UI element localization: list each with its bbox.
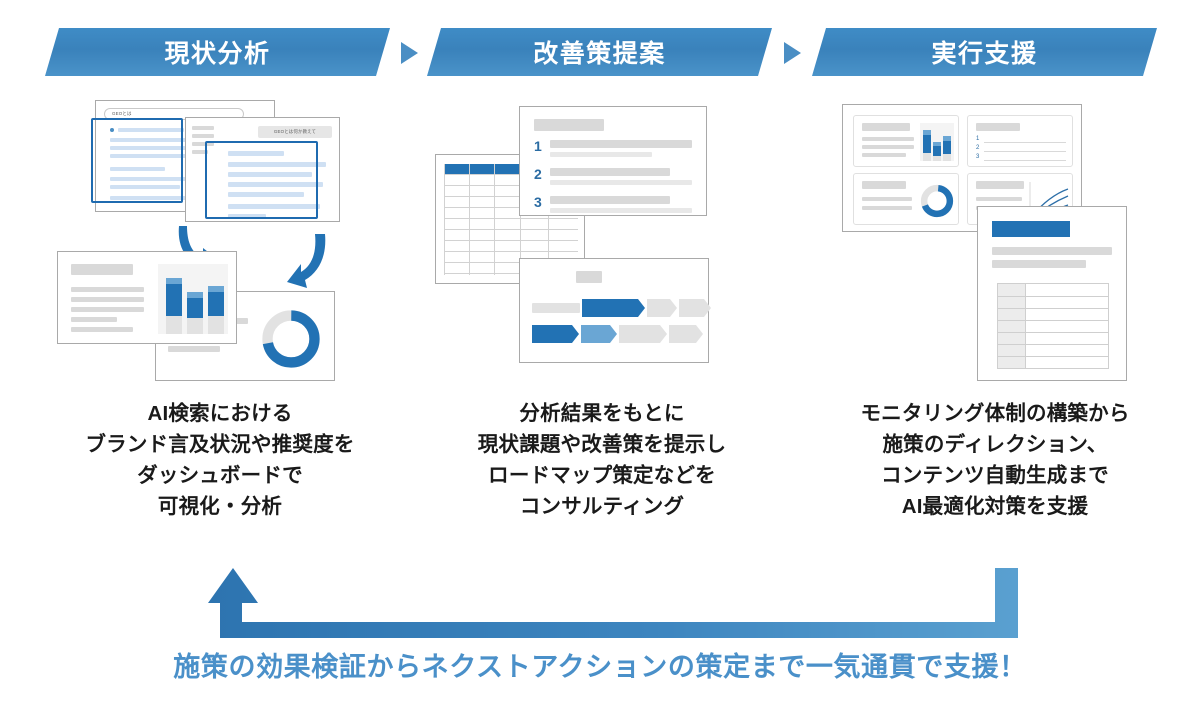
report-table — [997, 283, 1109, 369]
roadmap-label — [532, 303, 580, 313]
roadmap-row — [532, 299, 700, 317]
caption-line: モニタリング体制の構築から — [810, 398, 1180, 429]
dashboard-panel-bar-chart — [853, 115, 959, 167]
text-line — [550, 208, 692, 213]
bar-chart-bar — [208, 286, 224, 334]
title-block — [71, 264, 133, 275]
bar-chart-bar — [187, 292, 203, 334]
chat-prompt-text: GEOとは何か教えて — [274, 129, 316, 135]
bar-chart-bar — [923, 130, 931, 161]
text-line — [550, 196, 670, 204]
dashboard-card-primary — [57, 251, 237, 344]
step-banner-3[interactable]: 実行支援 — [812, 28, 1157, 76]
nav-line — [192, 126, 214, 130]
step-banner-label: 改善策提案 — [533, 34, 666, 70]
text-line — [71, 317, 117, 322]
dashboard-panel-donut — [853, 173, 959, 225]
chat-prompt-bubble: GEOとは何か教えて — [258, 126, 332, 138]
text-line — [550, 152, 652, 157]
step-banner-label: 現状分析 — [164, 34, 270, 70]
step-banner-label: 実行支援 — [931, 34, 1037, 70]
dashboard-panel-ranking: 1 2 3 — [967, 115, 1073, 167]
bar-chart-bar — [933, 142, 941, 161]
panel-title — [862, 123, 910, 131]
illustration-step-3: 1 2 3 — [812, 96, 1157, 391]
bar-chart — [158, 264, 228, 334]
list-number: 3 — [534, 194, 542, 210]
caption-line: 分析結果をもとに — [417, 398, 787, 429]
caption-step-2: 分析結果をもとに 現状課題や改善策を提示し ロードマップ策定などを コンサルティ… — [417, 398, 787, 522]
title-block — [534, 119, 604, 131]
text-line — [550, 180, 692, 185]
process-diagram: 現状分析 改善策提案 実行支援 GEOとは — [0, 0, 1200, 726]
flow-arrow-down-right-icon — [263, 208, 343, 288]
roadmap-card — [519, 258, 709, 363]
text-line — [71, 327, 133, 332]
caption-line: AI最適化対策を支援 — [810, 491, 1180, 522]
triangle-right-icon — [401, 42, 418, 64]
text-line — [862, 197, 912, 201]
list-number: 1 — [976, 136, 979, 142]
list-number: 2 — [534, 166, 542, 182]
roadmap-row — [532, 325, 700, 343]
recommendation-list-card: 1 2 3 — [519, 106, 707, 216]
list-number: 1 — [534, 138, 542, 154]
donut-chart — [260, 308, 322, 370]
list-number: 3 — [976, 154, 979, 160]
text-line — [862, 137, 914, 141]
caption-line: コンテンツ自動生成まで — [810, 460, 1180, 491]
step-header-row: 現状分析 改善策提案 実行支援 — [0, 28, 1200, 90]
step-banner-1[interactable]: 現状分析 — [45, 28, 390, 76]
text-line — [550, 168, 670, 176]
bar-chart-bar — [943, 136, 951, 161]
panel-title — [976, 123, 1020, 131]
caption-line: AI検索における — [35, 398, 405, 429]
donut-chart — [920, 184, 954, 218]
text-line — [862, 153, 906, 157]
text-line — [71, 307, 144, 312]
step-banner-2[interactable]: 改善策提案 — [427, 28, 772, 76]
caption-line: 現状課題や改善策を提示し — [417, 429, 787, 460]
highlight-box — [91, 118, 183, 203]
caption-line: 可視化・分析 — [35, 491, 405, 522]
caption-line: ロードマップ策定などを — [417, 460, 787, 491]
caption-line: コンサルティング — [417, 491, 787, 522]
text-line — [862, 145, 914, 149]
feedback-loop-arrow-icon — [190, 558, 1090, 640]
illustration-step-2: 1 2 3 — [427, 96, 772, 391]
text-line — [992, 260, 1086, 268]
text-line — [976, 197, 1022, 201]
text-line — [862, 206, 912, 210]
text-line — [71, 287, 144, 292]
text-line — [168, 346, 220, 352]
report-title-block — [992, 221, 1070, 237]
text-line — [71, 297, 144, 302]
caption-line: ブランド言及状況や推奨度を — [35, 429, 405, 460]
illustration-step-1: GEOとは GEOとは何か教えて — [45, 96, 390, 391]
panel-title — [976, 181, 1024, 189]
nav-line — [192, 134, 214, 138]
bar-chart-bar — [166, 278, 182, 334]
report-document-mock — [977, 206, 1127, 381]
text-line — [550, 140, 692, 148]
list-number: 2 — [976, 145, 979, 151]
text-line — [992, 247, 1112, 255]
triangle-right-icon — [784, 42, 801, 64]
bottom-tagline: 施策の効果検証からネクストアクションの策定まで一気通貫で支援！ — [0, 645, 1200, 684]
caption-line: ダッシュボードで — [35, 460, 405, 491]
caption-step-3: モニタリング体制の構築から 施策のディレクション、 コンテンツ自動生成まで AI… — [810, 398, 1180, 522]
panel-title — [862, 181, 906, 189]
title-block — [576, 271, 602, 283]
caption-line: 施策のディレクション、 — [810, 429, 1180, 460]
search-query-text: GEOとは — [112, 111, 132, 117]
caption-step-1: AI検索における ブランド言及状況や推奨度を ダッシュボードで 可視化・分析 — [35, 398, 405, 522]
bar-chart — [920, 123, 954, 161]
